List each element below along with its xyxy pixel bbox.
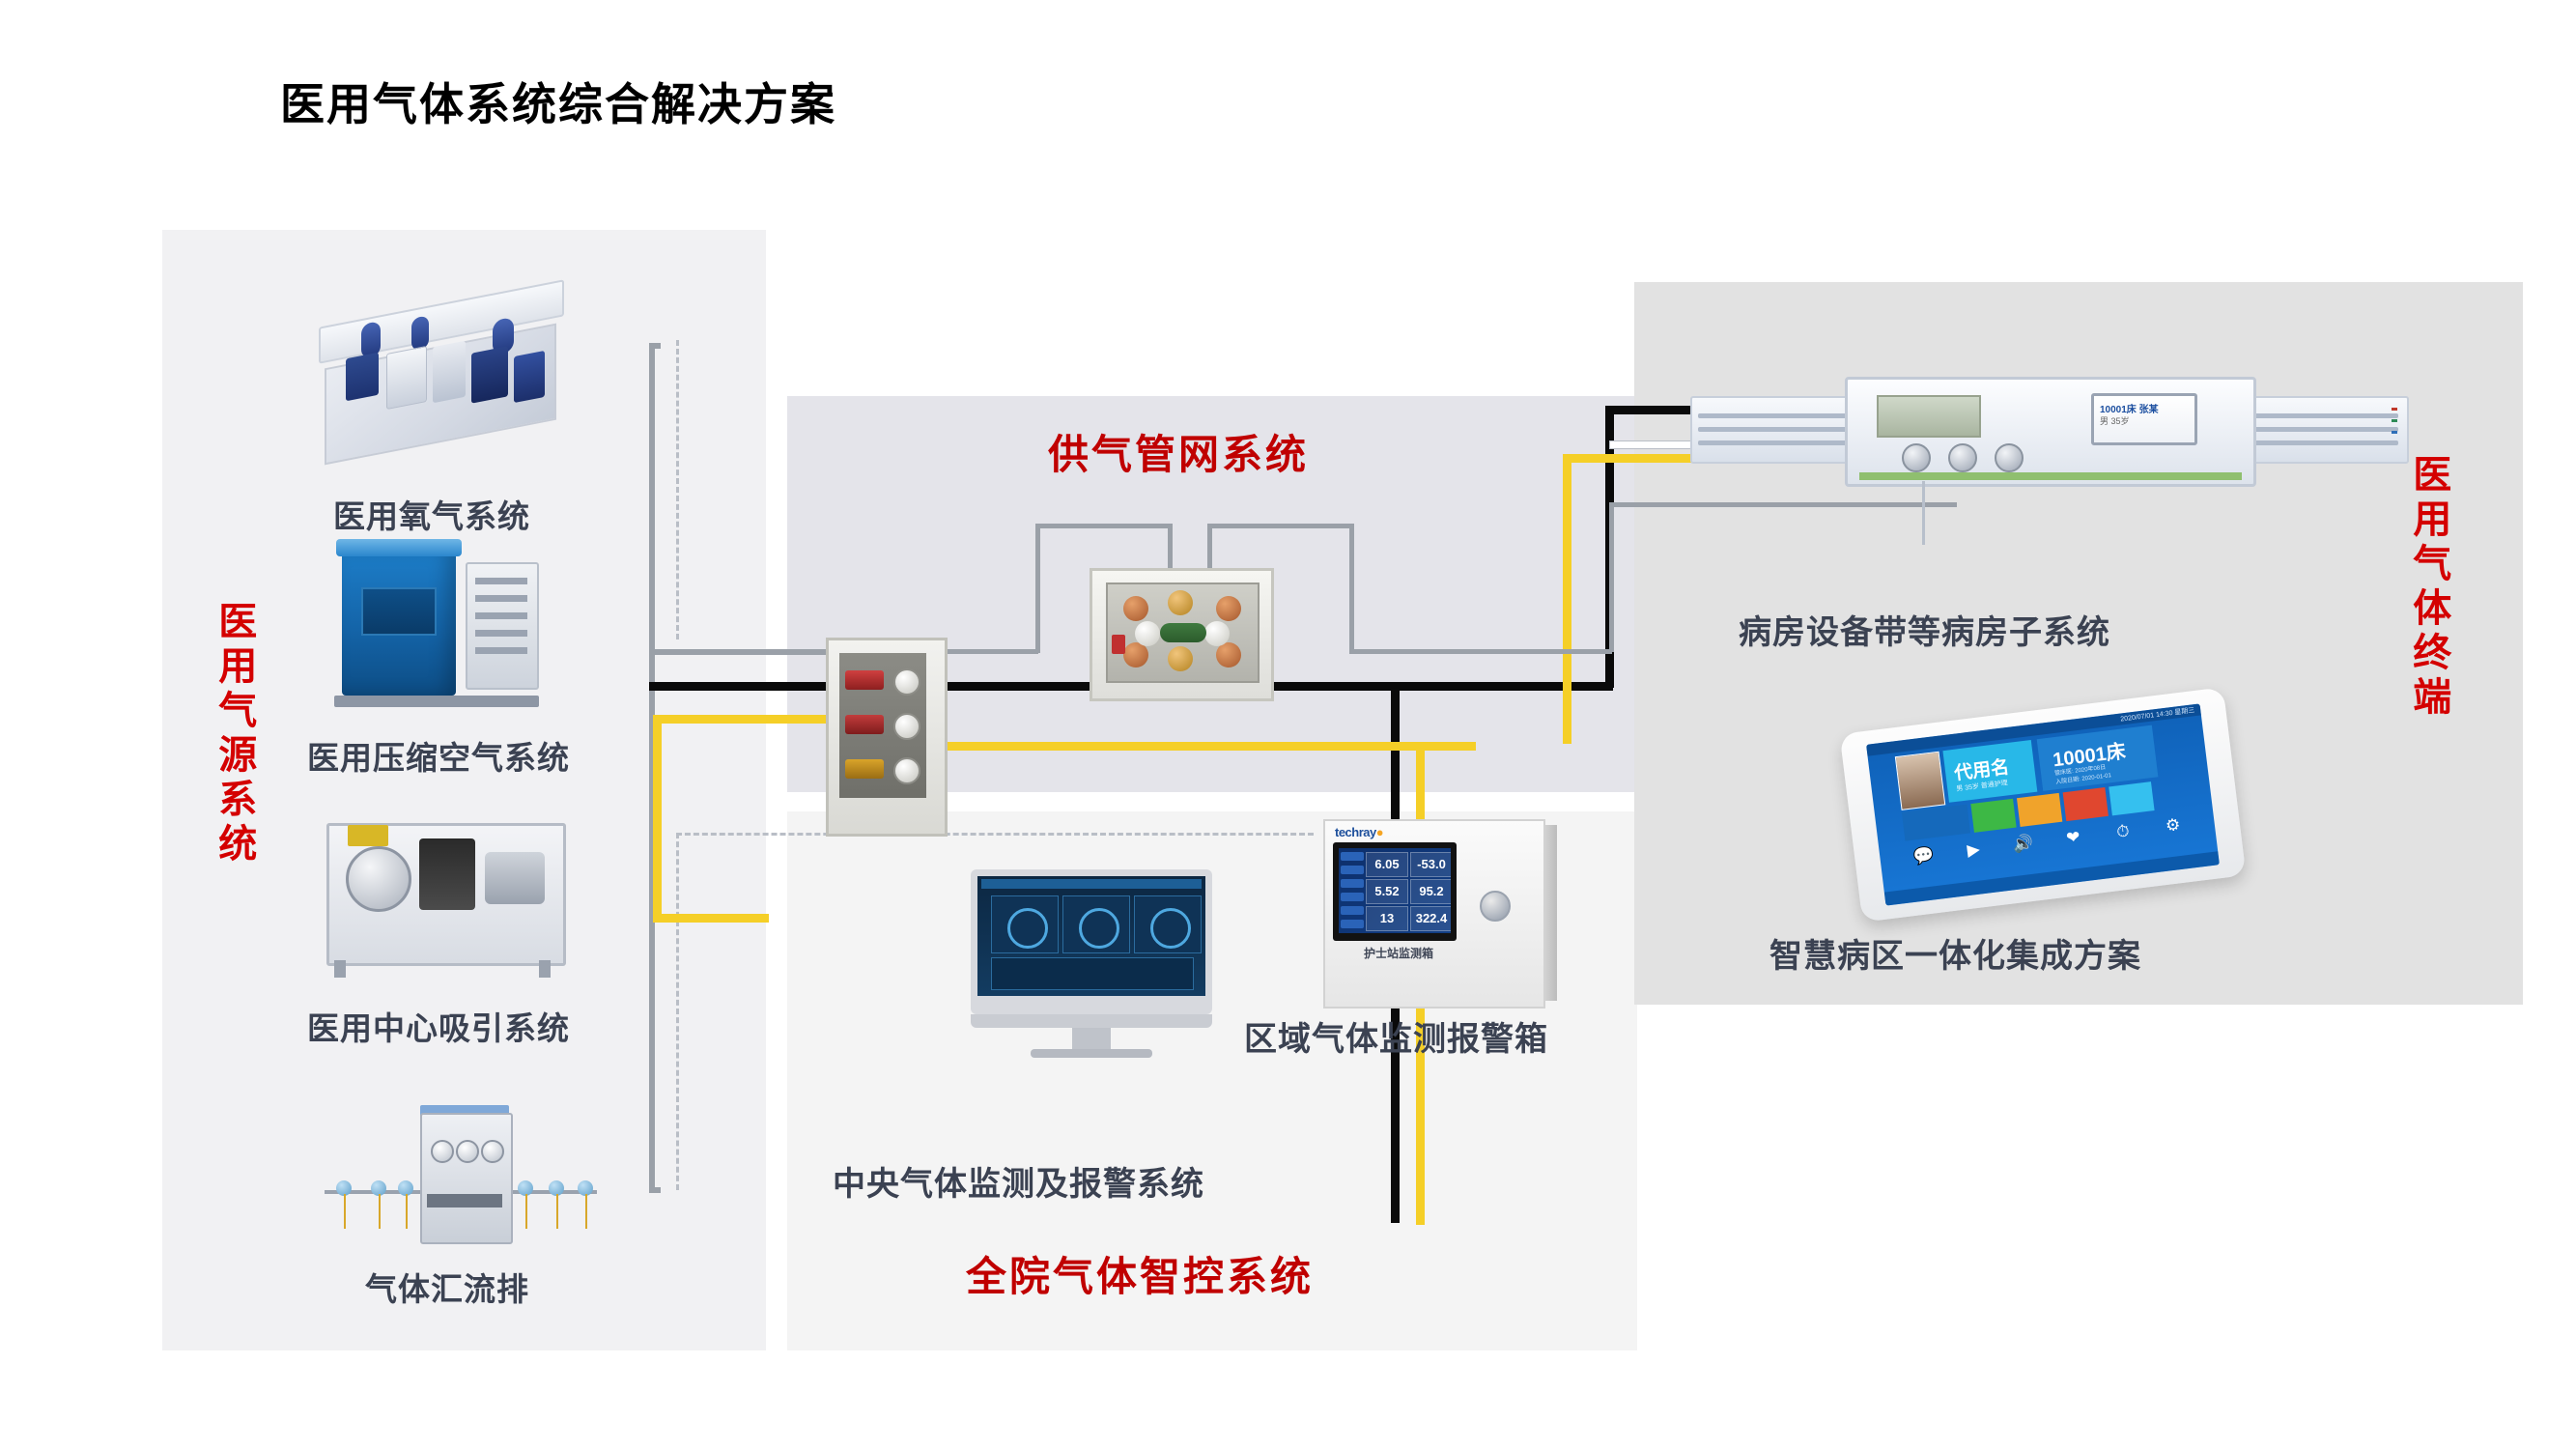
imac-monitor-icon <box>971 869 1212 1063</box>
pipe-yellow-riser-right <box>1563 454 1571 744</box>
infusion-monitor-icon[interactable]: ⏱ <box>2106 820 2140 843</box>
alarm-reading-3: 95.2 <box>1410 879 1451 904</box>
alarm-reading-0: 6.05 <box>1366 852 1408 877</box>
alarm-reading-4: 13 <box>1366 906 1408 931</box>
alarm-reading-5: 322.4 <box>1410 906 1451 931</box>
bedhead-knob-3[interactable] <box>1995 443 2024 472</box>
gear-icon[interactable]: ⚙ <box>2156 814 2191 838</box>
pipe-gray-loop-drop-left <box>1168 524 1173 570</box>
bed-number-tile[interactable]: 10001床 管床医: 2020年08日 入院日期: 2020-01-01 <box>2037 725 2159 791</box>
label-central-vacuum-system: 医用中心吸引系统 <box>307 1003 570 1049</box>
pipe-gray-loop-drop-right <box>1207 524 1212 570</box>
label-ward-bedhead-subsystem: 病房设备带等病房子系统 <box>1739 606 2110 653</box>
pipe-gray-loop-right-v <box>1349 524 1354 653</box>
pipe-gray-loop-top-left <box>1035 524 1173 528</box>
pipe-yellow-trunk <box>935 742 1476 751</box>
patient-avatar <box>1895 752 1945 810</box>
label-compressed-air-system: 医用压缩空气系统 <box>307 732 570 779</box>
doctor-nurse-row[interactable] <box>1902 805 1970 841</box>
alarm-reading-1: -53.0 <box>1410 852 1451 877</box>
call-speaker-icon[interactable]: 🔊 <box>2006 833 2041 856</box>
pipe-gray-cap-top <box>649 343 661 349</box>
pipe-gray-valvebox-to-loop <box>942 649 1038 654</box>
bedhead-knob-2[interactable] <box>1948 443 1977 472</box>
tile-fall-warning[interactable] <box>2063 787 2109 821</box>
pipe-yellow-foot <box>653 914 769 923</box>
vacuum-pump-skid-icon <box>319 800 570 980</box>
tile-nursing-level[interactable] <box>2017 793 2062 827</box>
alarm-reading-2: 5.52 <box>1366 879 1408 904</box>
nurse-station-alarm-box-icon: techray● 6.05 -53.0 5.52 95.2 13 322.4 护… <box>1323 819 1557 1005</box>
pipe-dashed-vertical-upper <box>676 340 679 639</box>
header-smart-control: 全院气体智控系统 <box>966 1244 1314 1303</box>
pipe-gray-top-right <box>1609 502 1957 507</box>
oxygen-plant-container-icon <box>319 290 570 454</box>
four-valve-terminal-box-icon <box>1090 568 1274 701</box>
care-heart-icon[interactable]: ❤ <box>2055 826 2090 849</box>
pipe-gray-riser-right-edge <box>1609 502 1614 652</box>
vertical-caption-gas-source: 医用气源系统 <box>211 601 256 867</box>
media-play-icon[interactable]: ▶ <box>1956 838 1991 862</box>
patient-name-tile[interactable]: 代用名 男 35岁 普通护理 <box>1942 740 2037 803</box>
pipe-gray-loop-bottom <box>1349 649 1612 654</box>
pipe-gray-to-valvebox <box>649 649 842 655</box>
vertical-caption-gas-terminal: 医用气体终端 <box>2405 454 2450 721</box>
pipe-gray-loop-top-right <box>1207 524 1354 528</box>
air-compressor-unit-icon <box>321 533 562 713</box>
tile-attending-doctor[interactable] <box>1970 799 2016 833</box>
bedhead-display-line2: 男 35岁 <box>2100 414 2130 427</box>
lock-icon[interactable] <box>1480 891 1511 922</box>
pipe-dashed-vertical-lower <box>676 833 679 1190</box>
message-board-icon[interactable]: 💬 <box>1907 844 1941 867</box>
pipe-gray-cap-bottom <box>649 1187 661 1193</box>
pipe-black-main-trunk <box>937 682 1613 691</box>
pipe-dashed-to-alarmbox <box>676 833 1314 836</box>
pipe-gray-loop-left-v <box>1035 524 1040 653</box>
alarm-box-caption: 护士站监测箱 <box>1350 945 1447 961</box>
header-pipe-network: 供气管网系统 <box>1048 422 1309 481</box>
tile-isolation-mark[interactable] <box>2109 781 2154 815</box>
label-smart-ward-solution: 智慧病区一体化集成方案 <box>1769 929 2141 977</box>
label-regional-alarm-box: 区域气体监测报警箱 <box>1244 1012 1548 1060</box>
pipe-yellow-riser-left <box>653 715 662 923</box>
page-title: 医用气体系统综合解决方案 <box>280 70 836 133</box>
label-central-gas-monitoring: 中央气体监测及报警系统 <box>833 1157 1204 1205</box>
label-gas-manifold: 气体汇流排 <box>365 1264 529 1310</box>
pipe-black-source-to-valvebox <box>649 682 854 691</box>
bedhead-display-line1: 10001床 张某 <box>2100 401 2159 415</box>
bed-head-unit-icon: 10001床 张某 男 35岁 <box>1690 377 2405 483</box>
gas-manifold-rack-icon <box>319 1101 599 1256</box>
bedhead-knob-1[interactable] <box>1902 443 1931 472</box>
zone-valve-box-icon <box>826 638 942 831</box>
label-oxygen-system: 医用氧气系统 <box>333 491 530 537</box>
techray-logo: techray● <box>1335 825 1383 839</box>
